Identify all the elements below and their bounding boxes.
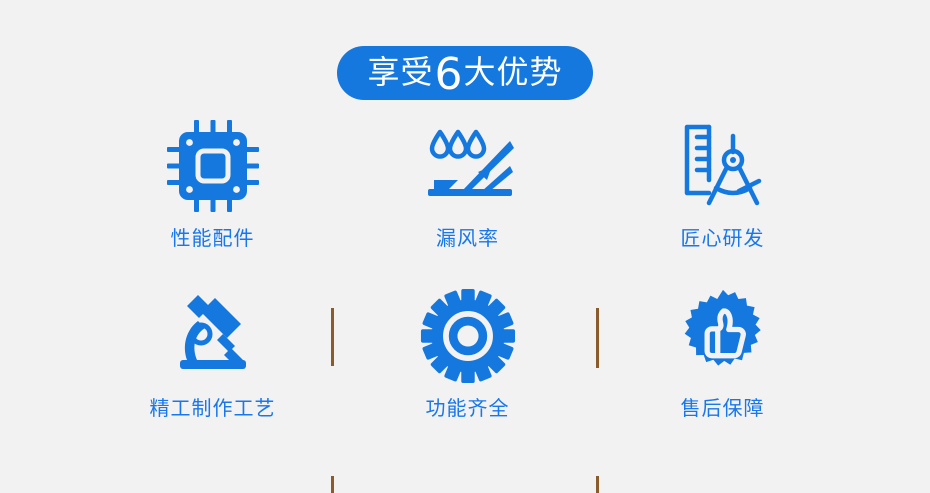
water-repellent-icon bbox=[418, 118, 518, 214]
column-divider bbox=[596, 308, 599, 368]
feature-label: 漏风率 bbox=[436, 228, 499, 248]
feature-label: 性能配件 bbox=[171, 228, 255, 248]
column-divider bbox=[331, 476, 334, 493]
title-number: 6 bbox=[434, 53, 464, 97]
feature-item-full-function[interactable]: 功能齐全 bbox=[340, 288, 595, 418]
thumbs-up-badge-icon bbox=[675, 288, 771, 384]
microscope-icon bbox=[165, 288, 261, 384]
page-title-banner: 享受6大优势 bbox=[0, 46, 930, 100]
feature-item-performance-parts[interactable]: 性能配件 bbox=[85, 118, 340, 248]
feature-label: 精工制作工艺 bbox=[150, 398, 276, 418]
feature-row-2: 精工制作工艺 bbox=[0, 288, 930, 443]
feature-item-craftsmanship[interactable]: 精工制作工艺 bbox=[85, 288, 340, 418]
cpu-chip-icon bbox=[165, 118, 261, 214]
title-prefix: 享受 bbox=[367, 56, 433, 88]
feature-item-after-sales[interactable]: 售后保障 bbox=[595, 288, 850, 418]
ruler-compass-icon bbox=[675, 118, 771, 214]
feature-item-rnd[interactable]: 匠心研发 bbox=[595, 118, 850, 248]
gear-icon bbox=[420, 288, 516, 384]
feature-label: 功能齐全 bbox=[426, 398, 510, 418]
title-pill: 享受6大优势 bbox=[337, 46, 592, 100]
feature-label: 匠心研发 bbox=[681, 228, 765, 248]
feature-item-air-leakage[interactable]: 漏风率 bbox=[340, 118, 595, 248]
title-suffix: 大优势 bbox=[464, 56, 563, 88]
column-divider bbox=[596, 476, 599, 493]
feature-row-1: 性能配件 bbox=[0, 118, 930, 273]
feature-label: 售后保障 bbox=[681, 398, 765, 418]
feature-grid: 性能配件 bbox=[0, 118, 930, 448]
column-divider bbox=[331, 308, 334, 366]
